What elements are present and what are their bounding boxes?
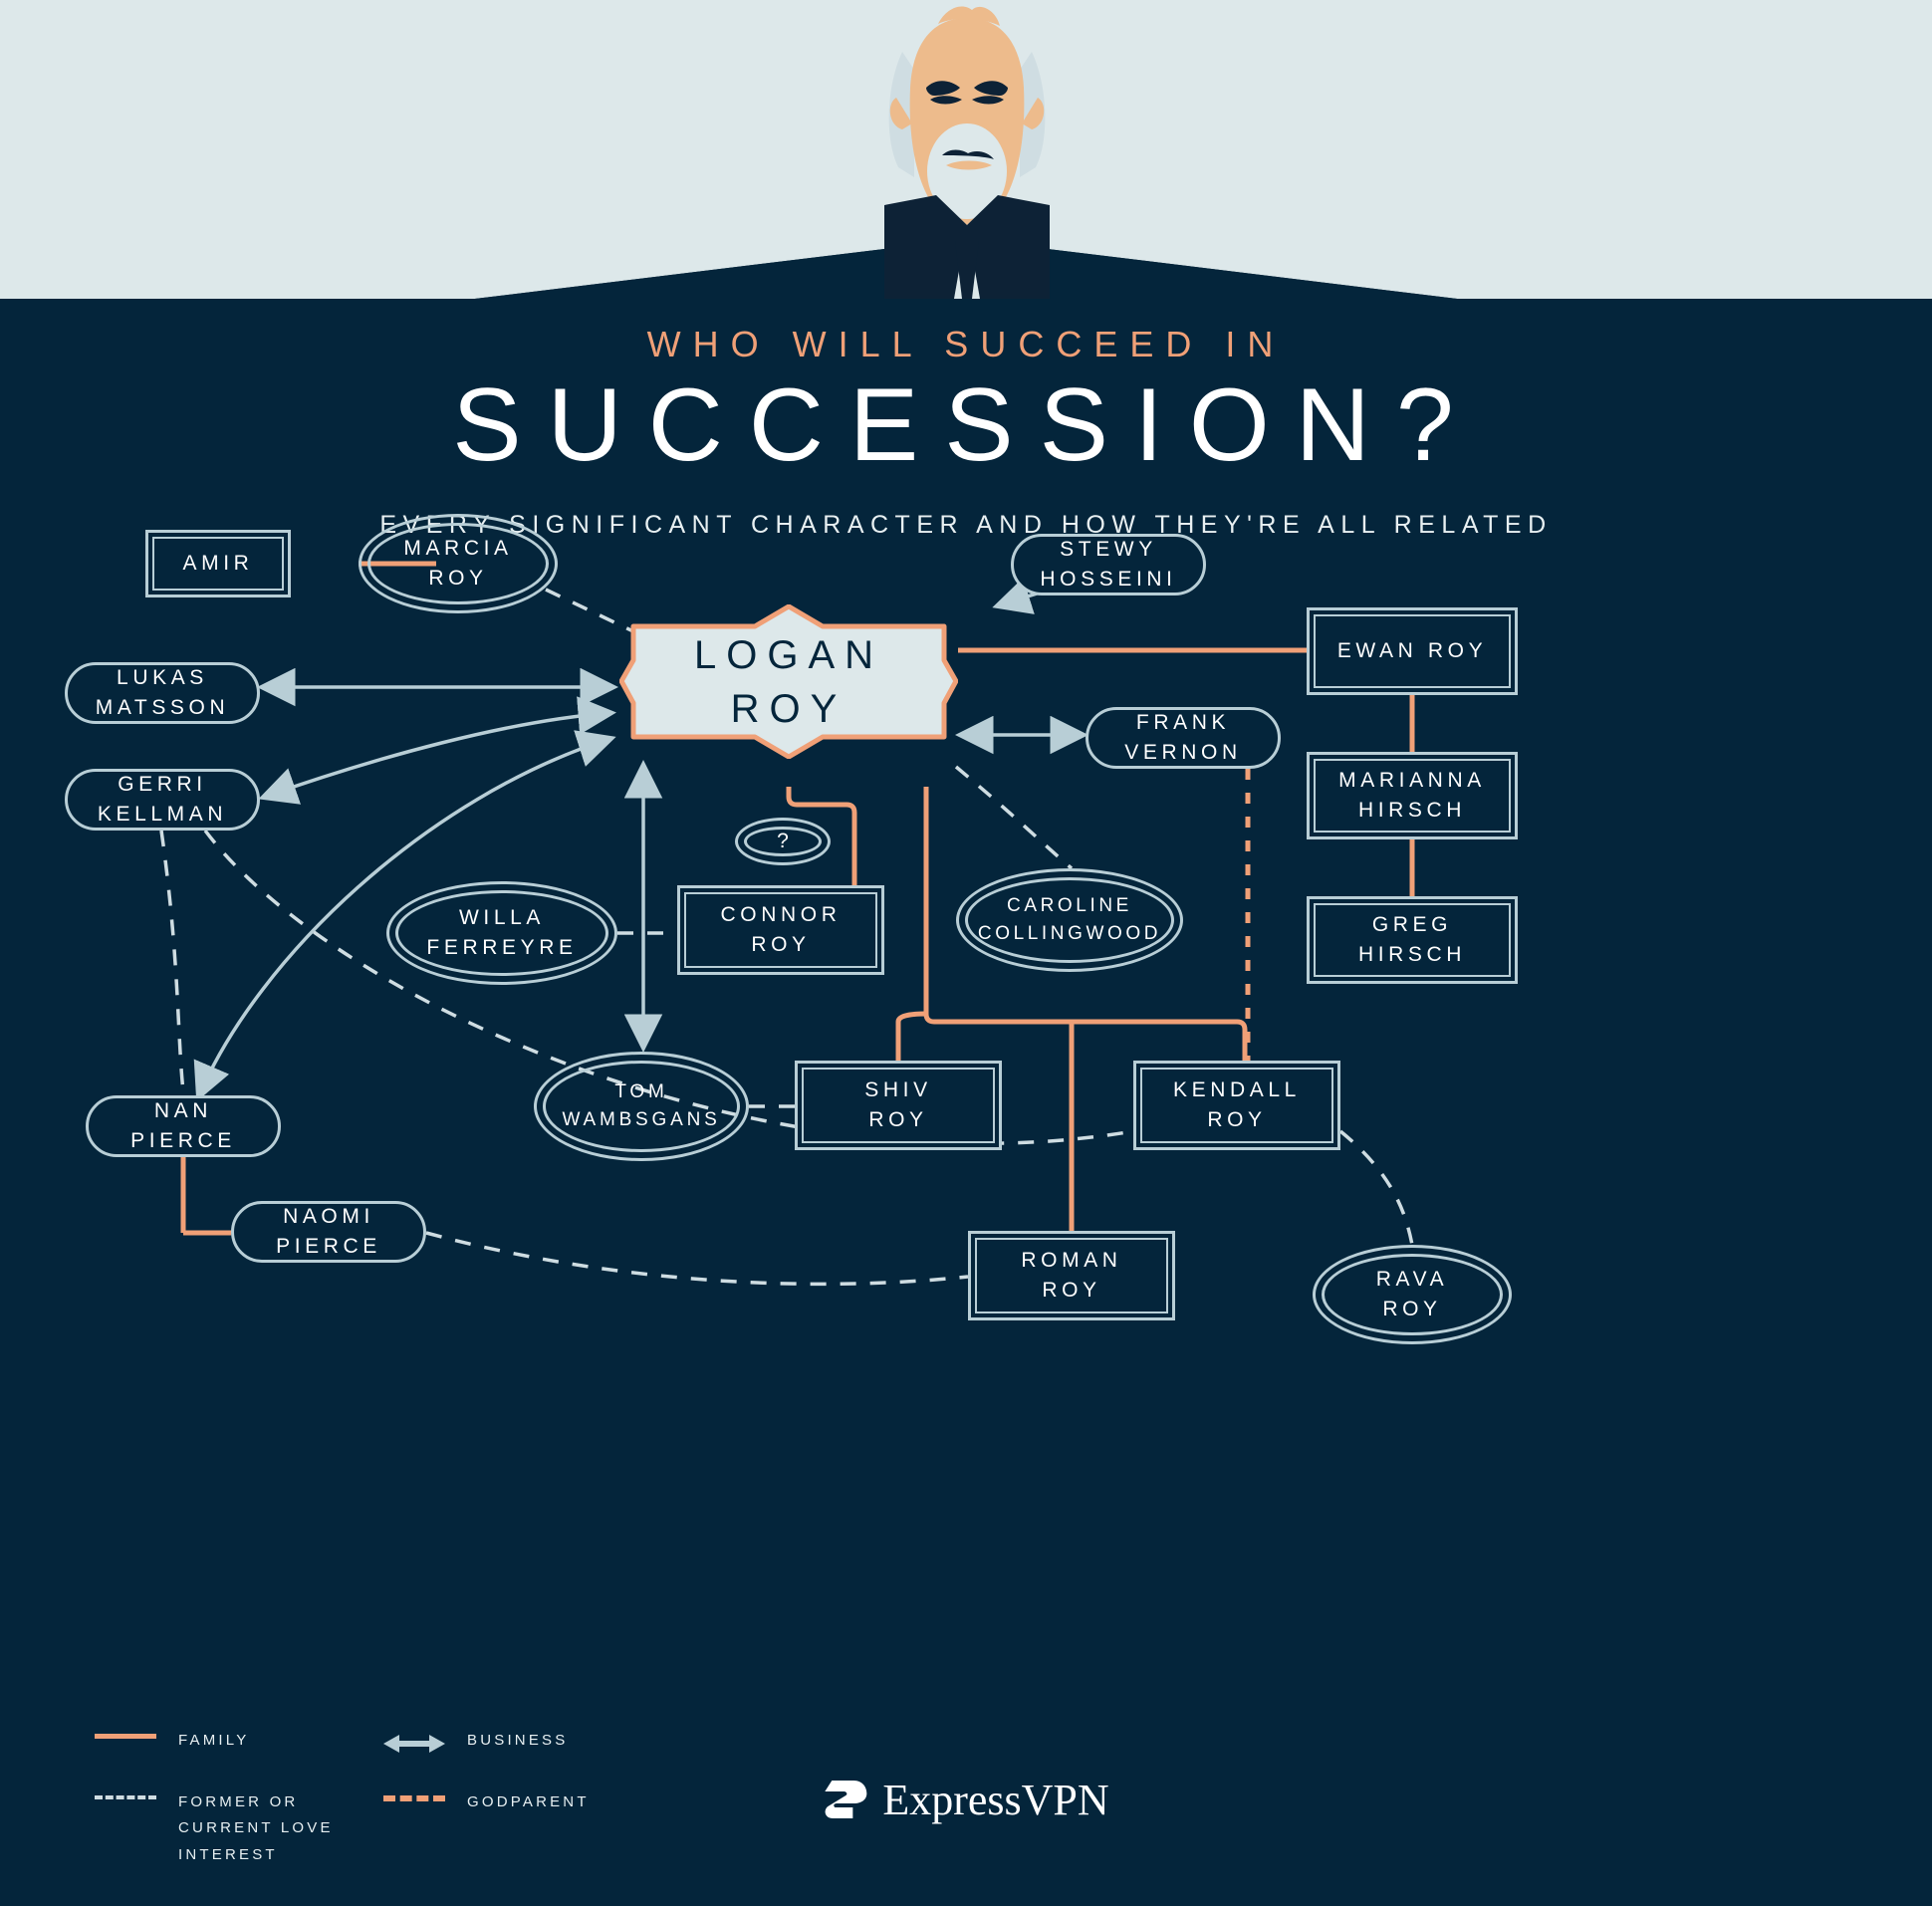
legend-label-love: FORMER OR CURRENT LOVE INTEREST (178, 1789, 334, 1868)
node-label-amir: AMIR (183, 549, 254, 579)
node-label-nan-pierce: NANPIERCE (130, 1096, 236, 1157)
legend-label-family: FAMILY (178, 1728, 249, 1754)
expressvpn-logo[interactable]: ExpressVPN (823, 1775, 1108, 1825)
node-label-logan-roy: LOGANROY (694, 628, 883, 736)
node-label-shiv-roy: SHIVROY (864, 1075, 931, 1136)
node-kendall-roy[interactable]: KENDALLROY (1133, 1061, 1340, 1150)
node-label-greg-hirsch: GREGHIRSCH (1358, 910, 1466, 971)
legend-label-godparent: GODPARENT (467, 1789, 590, 1815)
node-label-lukas-matsson: LUKASMATSSON (96, 663, 229, 724)
node-label-caroline-collingwood: CAROLINECOLLINGWOOD (978, 892, 1161, 947)
expressvpn-wordmark: ExpressVPN (882, 1775, 1108, 1825)
node-logan-roy[interactable]: LOGANROY (619, 604, 958, 759)
legend-item-business: BUSINESS (383, 1728, 568, 1759)
node-ewan-roy[interactable]: EWAN ROY (1307, 607, 1518, 695)
node-label-ewan-roy: EWAN ROY (1337, 636, 1487, 666)
godparent-line-swatch (383, 1789, 445, 1801)
node-amir[interactable]: AMIR (145, 530, 291, 597)
node-marianna-hirsch[interactable]: MARIANNAHIRSCH (1307, 752, 1518, 839)
business-arrow-swatch (383, 1728, 445, 1759)
node-label-unknown-child: ? (777, 827, 789, 856)
expressvpn-mark-icon (823, 1778, 868, 1823)
node-label-willa-ferreyre: WILLAFERREYRE (426, 903, 577, 964)
relationship-diagram: AMIR MARCIAROY STEWYHOSSEINI EWAN ROY LU… (0, 0, 1932, 1906)
node-frank-vernon[interactable]: FRANKVERNON (1086, 707, 1281, 769)
node-shiv-roy[interactable]: SHIVROY (795, 1061, 1002, 1150)
node-label-connor-roy: CONNORROY (721, 900, 842, 961)
node-label-roman-roy: ROMANROY (1021, 1246, 1121, 1307)
infographic-root: WHO WILL SUCCEED IN SUCCESSION? EVERY SI… (0, 0, 1932, 1906)
node-caroline-collingwood[interactable]: CAROLINECOLLINGWOOD (956, 868, 1183, 972)
legend-label-business: BUSINESS (467, 1728, 568, 1754)
node-roman-roy[interactable]: ROMANROY (968, 1231, 1175, 1320)
node-stewy-hosseini[interactable]: STEWYHOSSEINI (1011, 534, 1206, 596)
node-label-marianna-hirsch: MARIANNAHIRSCH (1338, 766, 1486, 827)
edge-layer (0, 0, 1932, 1906)
node-willa-ferreyre[interactable]: WILLAFERREYRE (386, 881, 617, 985)
legend-item-love: FORMER OR CURRENT LOVE INTEREST (95, 1789, 334, 1868)
node-rava-roy[interactable]: RAVAROY (1313, 1245, 1512, 1344)
node-gerri-kellman[interactable]: GERRIKELLMAN (65, 769, 260, 831)
node-greg-hirsch[interactable]: GREGHIRSCH (1307, 896, 1518, 984)
node-label-frank-vernon: FRANKVERNON (1124, 708, 1241, 769)
node-label-tom-wambsgans: TOMWAMBSGANS (562, 1078, 720, 1133)
node-tom-wambsgans[interactable]: TOMWAMBSGANS (534, 1052, 749, 1161)
family-line-swatch (95, 1728, 156, 1739)
love-line-swatch (95, 1789, 156, 1799)
node-naomi-pierce[interactable]: NAOMIPIERCE (231, 1201, 426, 1263)
node-label-marcia-roy: MARCIAROY (403, 534, 512, 595)
node-marcia-roy[interactable]: MARCIAROY (359, 514, 558, 613)
node-label-kendall-roy: KENDALLROY (1173, 1075, 1301, 1136)
node-label-gerri-kellman: GERRIKELLMAN (98, 770, 227, 831)
legend-item-family: FAMILY (95, 1728, 249, 1754)
node-unknown-child[interactable]: ? (735, 818, 831, 865)
node-label-naomi-pierce: NAOMIPIERCE (276, 1202, 381, 1263)
node-connor-roy[interactable]: CONNORROY (677, 885, 884, 975)
node-nan-pierce[interactable]: NANPIERCE (86, 1095, 281, 1157)
node-label-rava-roy: RAVAROY (1376, 1265, 1448, 1325)
node-lukas-matsson[interactable]: LUKASMATSSON (65, 662, 260, 724)
node-label-stewy-hosseini: STEWYHOSSEINI (1040, 535, 1176, 596)
legend-item-godparent: GODPARENT (383, 1789, 590, 1815)
